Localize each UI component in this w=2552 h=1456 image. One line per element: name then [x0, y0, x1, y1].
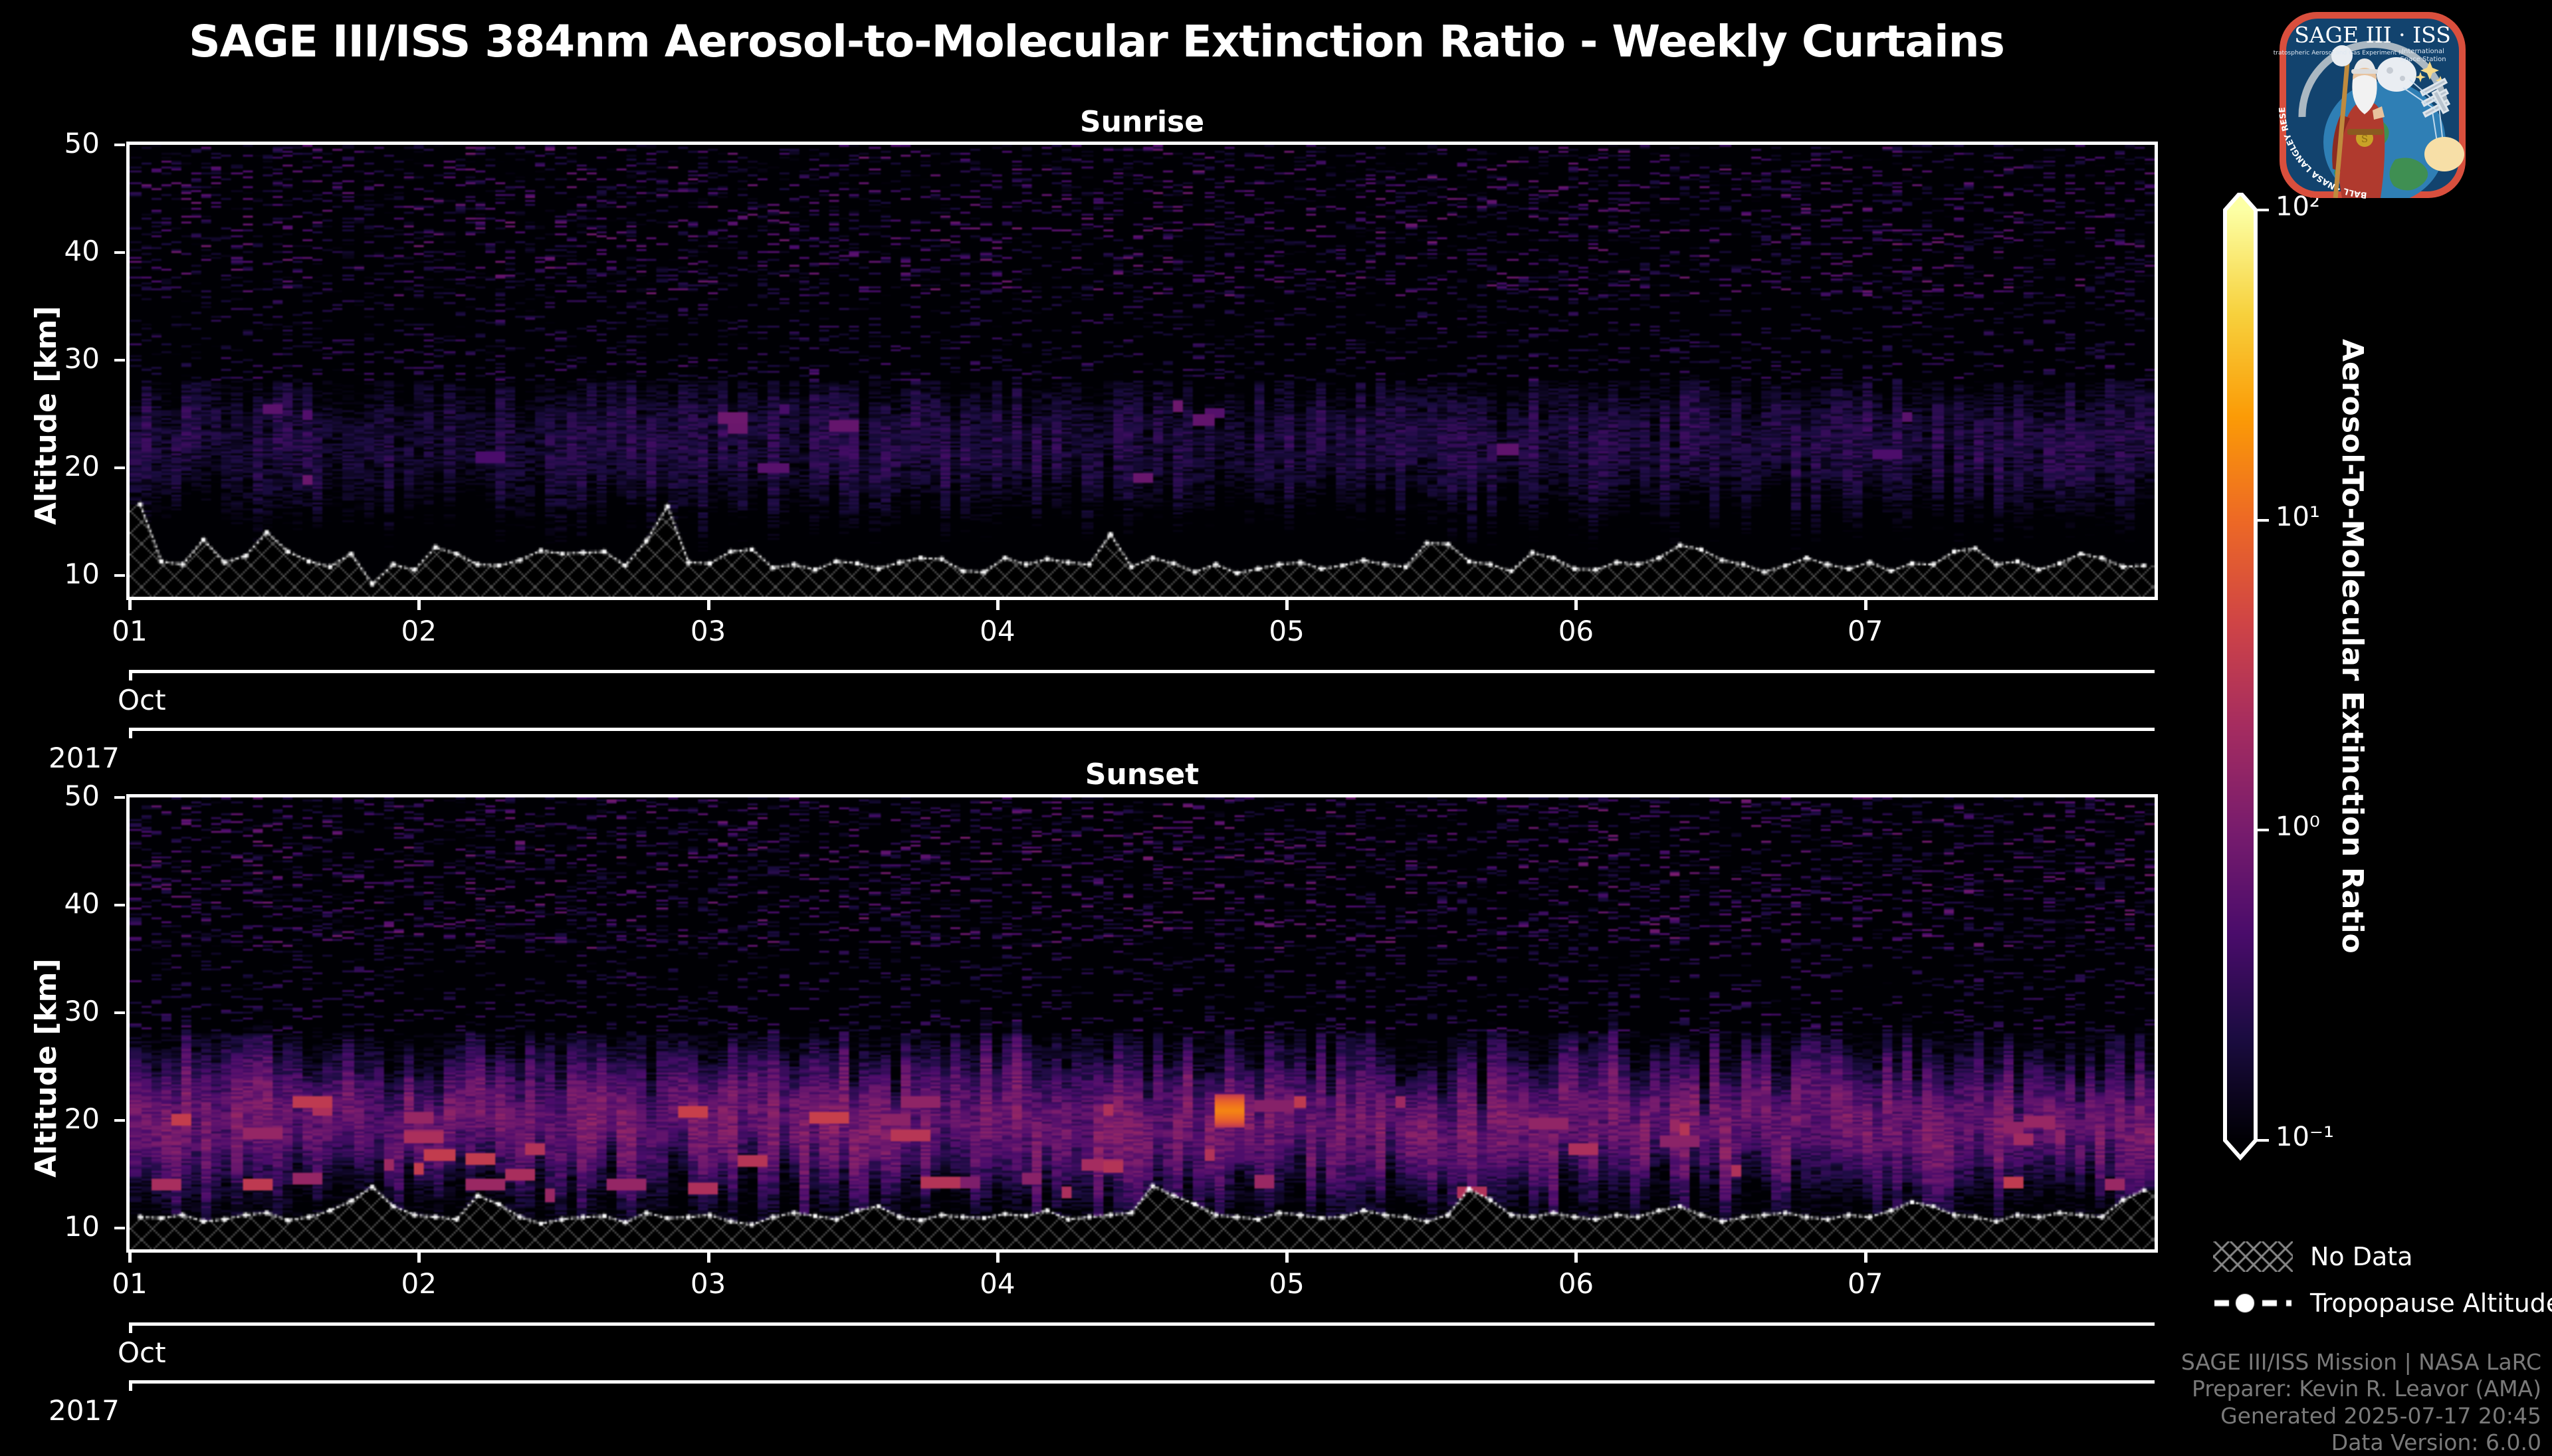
- month-axis-stub: [129, 1322, 132, 1333]
- footer-credits: SAGE III/ISS Mission | NASA LaRC Prepare…: [2181, 1349, 2541, 1456]
- footer-line-generated: Generated 2025-07-17 20:45: [2181, 1403, 2541, 1429]
- logo-title: SAGE III · ISS: [2294, 22, 2451, 48]
- colorbar-title: Aerosol-To-Molecular Extinction Ratio: [2335, 339, 2369, 954]
- x-axis-year-label: 2017: [49, 1394, 120, 1427]
- x-tick-mark: [1285, 1252, 1289, 1263]
- legend-label-tropopause: Tropopause Altitude: [2310, 1289, 2552, 1318]
- x-tick-label-day: 02: [366, 1267, 472, 1300]
- x-axis-sunset: 01020304050607Oct2017: [0, 0, 2552, 1435]
- legend-item-tropopause[interactable]: Tropopause Altitude: [2213, 1288, 2552, 1318]
- colorbar-tick-mark: [2257, 209, 2269, 211]
- colorbar-tick-label: 10⁻¹: [2276, 1122, 2334, 1152]
- x-tick-mark: [417, 1252, 421, 1263]
- x-tick-mark: [1574, 1252, 1578, 1263]
- colorbar-tick-label: 10⁰: [2276, 811, 2320, 842]
- year-axis-rule: [130, 1380, 2155, 1384]
- x-tick-label-day: 01: [76, 1267, 183, 1300]
- tropopause-marker-icon: [2213, 1288, 2293, 1318]
- x-tick-label-day: 04: [944, 1267, 1051, 1300]
- x-tick-mark: [1864, 1252, 1867, 1263]
- x-tick-mark: [996, 1252, 1000, 1263]
- logo-subtitle-left: Stratospheric Aerosol and Gas Experiment…: [2273, 50, 2404, 56]
- footer-line-mission: SAGE III/ISS Mission | NASA LaRC: [2181, 1349, 2541, 1376]
- sage-iii-iss-logo: S SAGE III · ISS Stratospheric Aerosol a…: [2273, 5, 2472, 205]
- legend-label-no-data: No Data: [2310, 1242, 2413, 1271]
- year-axis-stub: [129, 1380, 132, 1391]
- colorbar-tick-label: 10¹: [2276, 502, 2320, 532]
- x-axis-month-label: Oct: [118, 1336, 166, 1369]
- no-data-hatch-icon: [2213, 1241, 2293, 1272]
- logo-subtitle-right-2: Space Station: [2400, 56, 2446, 63]
- mission-patch-icon: S SAGE III · ISS Stratospheric Aerosol a…: [2273, 5, 2472, 205]
- colorbar-tick-mark: [2257, 829, 2269, 831]
- colorbar-tick-mark: [2257, 1139, 2269, 1142]
- x-tick-label-day: 06: [1523, 1267, 1629, 1300]
- colorbar-tick-mark: [2257, 519, 2269, 522]
- footer-line-preparer: Preparer: Kevin R. Leavor (AMA): [2181, 1376, 2541, 1402]
- x-tick-label-day: 03: [655, 1267, 762, 1300]
- x-tick-mark: [707, 1252, 710, 1263]
- legend-item-no-data[interactable]: No Data: [2213, 1241, 2413, 1272]
- x-tick-label-day: 05: [1233, 1267, 1340, 1300]
- footer-line-version: Data Version: 6.0.0: [2181, 1429, 2541, 1456]
- logo-subtitle-right-1: International: [2402, 48, 2444, 55]
- x-tick-mark: [128, 1252, 132, 1263]
- x-tick-label-day: 07: [1812, 1267, 1919, 1300]
- month-axis-rule: [130, 1322, 2155, 1326]
